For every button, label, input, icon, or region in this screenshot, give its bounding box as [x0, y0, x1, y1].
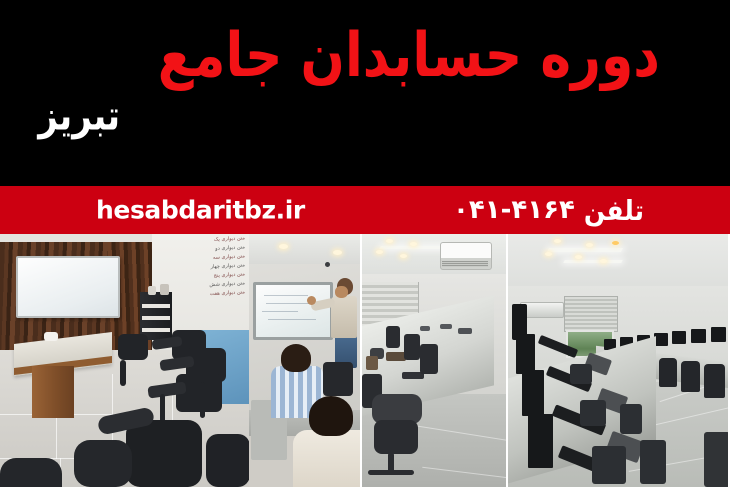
office-chair — [570, 364, 592, 384]
photo-strip: متن دیواری یک متن دیواری دو متن دیواری س… — [0, 234, 730, 487]
desk-item — [458, 328, 472, 334]
office-chair — [704, 432, 730, 487]
office-chair — [620, 404, 642, 434]
ceiling-spotlight — [600, 259, 607, 263]
ceiling-spotlight — [400, 254, 407, 258]
whiteboard — [16, 256, 120, 318]
photo-instructor-whiteboard — [249, 234, 362, 487]
chair-base — [368, 470, 414, 475]
foreground-chair — [206, 434, 249, 487]
desk-item — [366, 356, 378, 370]
phone-number[interactable]: ۰۴۱-۴۱۶۴ — [453, 195, 575, 225]
ceiling-spotlight — [554, 239, 561, 243]
ceiling-light-strip — [563, 260, 623, 263]
ceiling-light-strip — [547, 248, 623, 252]
camera-icon — [325, 262, 330, 267]
wall-text-line: متن دیواری سه — [179, 254, 245, 262]
office-chair — [659, 358, 677, 387]
city-label: تبریز — [38, 96, 120, 137]
monitor — [711, 327, 726, 342]
foreground-chair — [126, 420, 202, 487]
board-writing — [264, 295, 308, 296]
teaching-ceiling — [249, 234, 362, 264]
monitor — [672, 331, 686, 344]
monitor — [522, 370, 544, 416]
desk-leg — [32, 366, 74, 418]
monitor — [654, 333, 668, 346]
ceiling-light-strip — [379, 246, 447, 249]
office-chair — [704, 364, 725, 398]
ceiling-spotlight — [333, 250, 342, 255]
phone-label: تلفن — [584, 194, 644, 226]
foreground-chair — [74, 440, 132, 487]
student-head — [309, 396, 353, 436]
office-chair — [592, 446, 626, 484]
wall-text-line: متن دیواری دو — [179, 245, 245, 253]
desk-item — [44, 332, 58, 341]
ceiling-spotlight — [410, 242, 417, 246]
desk-item — [386, 352, 406, 361]
photo-computer-lab — [508, 234, 730, 487]
ac-vent — [442, 261, 488, 267]
ceiling-spotlight — [545, 252, 552, 256]
office-chair — [640, 440, 666, 484]
shelf-item — [160, 284, 169, 295]
floor-tile — [0, 414, 57, 459]
lab-ceiling — [508, 234, 730, 294]
wall-text-line: متن دیواری پنج — [179, 272, 245, 280]
shelf-row — [142, 316, 170, 320]
shelf-item — [148, 286, 156, 295]
chair-leg — [120, 360, 126, 386]
banner-header: دوره حسابدان جامع تبریز — [0, 0, 730, 186]
whiteboard — [253, 282, 333, 340]
monitor — [691, 329, 706, 343]
ceiling-spotlight — [575, 255, 582, 259]
foreground-chair — [0, 458, 62, 487]
desk-item — [440, 324, 452, 329]
monitor — [516, 334, 535, 374]
shelf-row — [142, 328, 170, 332]
desk-item — [420, 326, 430, 331]
instructor-hand — [307, 296, 316, 305]
ceiling-spotlight — [376, 250, 383, 254]
advertisement-banner: دوره حسابدان جامع تبریز hesabdaritbz.ir … — [0, 0, 730, 487]
photo-seminar-room: متن دیواری یک متن دیواری دو متن دیواری س… — [0, 234, 249, 487]
wall-text-line: متن دیواری شش — [179, 281, 245, 289]
ceiling-spotlight — [386, 239, 393, 243]
window-blind — [564, 296, 618, 332]
instructor-face — [335, 286, 348, 298]
wall-text-line: متن دیواری یک — [179, 236, 245, 244]
wall-decor-text: متن دیواری یک متن دیواری دو متن دیواری س… — [179, 238, 245, 297]
ceiling-spotlight — [279, 244, 288, 249]
office-chair — [404, 334, 420, 360]
office-chair — [374, 420, 418, 454]
ceiling-spotlight — [586, 243, 593, 247]
ceiling-spotlight — [612, 241, 619, 245]
student-head — [281, 344, 311, 372]
photo-classroom — [362, 234, 508, 487]
shelf-row — [142, 304, 170, 308]
office-chair — [386, 326, 400, 348]
monitor — [528, 414, 553, 468]
board-writing — [268, 319, 316, 320]
contact-bar: hesabdaritbz.ir تلفن ۰۴۱-۴۱۶۴ — [0, 186, 730, 234]
student-chair — [323, 362, 353, 396]
tablet-arm-chair — [118, 334, 148, 360]
board-writing — [262, 311, 298, 312]
chair-leg — [200, 382, 205, 418]
wall-text-line: متن دیواری چهار — [179, 263, 245, 271]
office-chair — [420, 344, 438, 374]
office-chair — [580, 400, 606, 426]
student-body — [293, 430, 362, 487]
office-chair — [681, 361, 700, 392]
phone-group: تلفن ۰۴۱-۴۱۶۴ — [453, 195, 644, 225]
website-url[interactable]: hesabdaritbz.ir — [96, 196, 305, 225]
page-title: دوره حسابدان جامع — [158, 24, 660, 88]
